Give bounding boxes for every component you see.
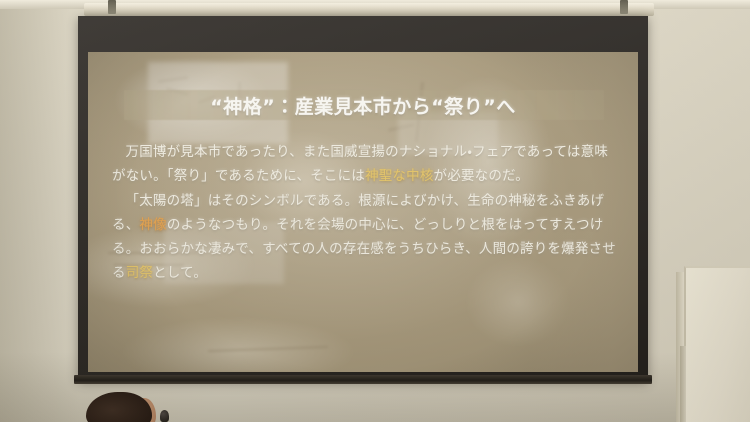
text-run: 万国博が見本市であったり、また国威宣揚のナショナル・フェアであっては意味がない。…: [112, 144, 608, 184]
projector-screen-surface: “神格”：産業見本市から“祭り”へ 万国博が見本市であったり、また国威宣揚のナシ…: [88, 52, 638, 372]
highlighted-term-priest: 司祭: [126, 265, 153, 281]
slide-paragraph-2: 「太陽の塔」はそのシンボルである。根源によびかけ、生命の神秘をふきあげる、神像の…: [112, 189, 618, 286]
slide-title: “神格”：産業見本市から“祭り”へ: [88, 92, 638, 119]
projector-screen-frame: “神格”：産業見本市から“祭り”へ 万国博が見本市であったり、また国威宣揚のナシ…: [78, 16, 648, 381]
whiteboard-pen-tray: [680, 346, 686, 422]
roller-bracket-right: [620, 0, 628, 14]
projector-screen-roller-bar[interactable]: [84, 3, 654, 16]
microphone: [160, 410, 169, 422]
text-run: として。: [153, 265, 207, 281]
slide-body: 万国博が見本市であったり、また国威宣揚のナショナル・フェアであっては意味がない。…: [112, 140, 618, 286]
highlighted-term-divine-image: 神像: [139, 217, 166, 233]
roller-bracket-left: [108, 0, 116, 14]
text-run: が必要なのだ。: [434, 168, 530, 184]
projector-screen-weight-bar: [74, 375, 652, 384]
slide-content: “神格”：産業見本市から“祭り”へ 万国博が見本市であったり、また国威宣揚のナシ…: [88, 52, 638, 372]
whiteboard-panel: [684, 266, 750, 422]
presentation-photo-scene: “神格”：産業見本市から“祭り”へ 万国博が見本市であったり、また国威宣揚のナシ…: [0, 0, 750, 422]
highlighted-term-sacred-core: 神聖な中核: [365, 168, 434, 184]
slide-paragraph-1: 万国博が見本市であったり、また国威宣揚のナショナル・フェアであっては意味がない。…: [112, 140, 618, 189]
